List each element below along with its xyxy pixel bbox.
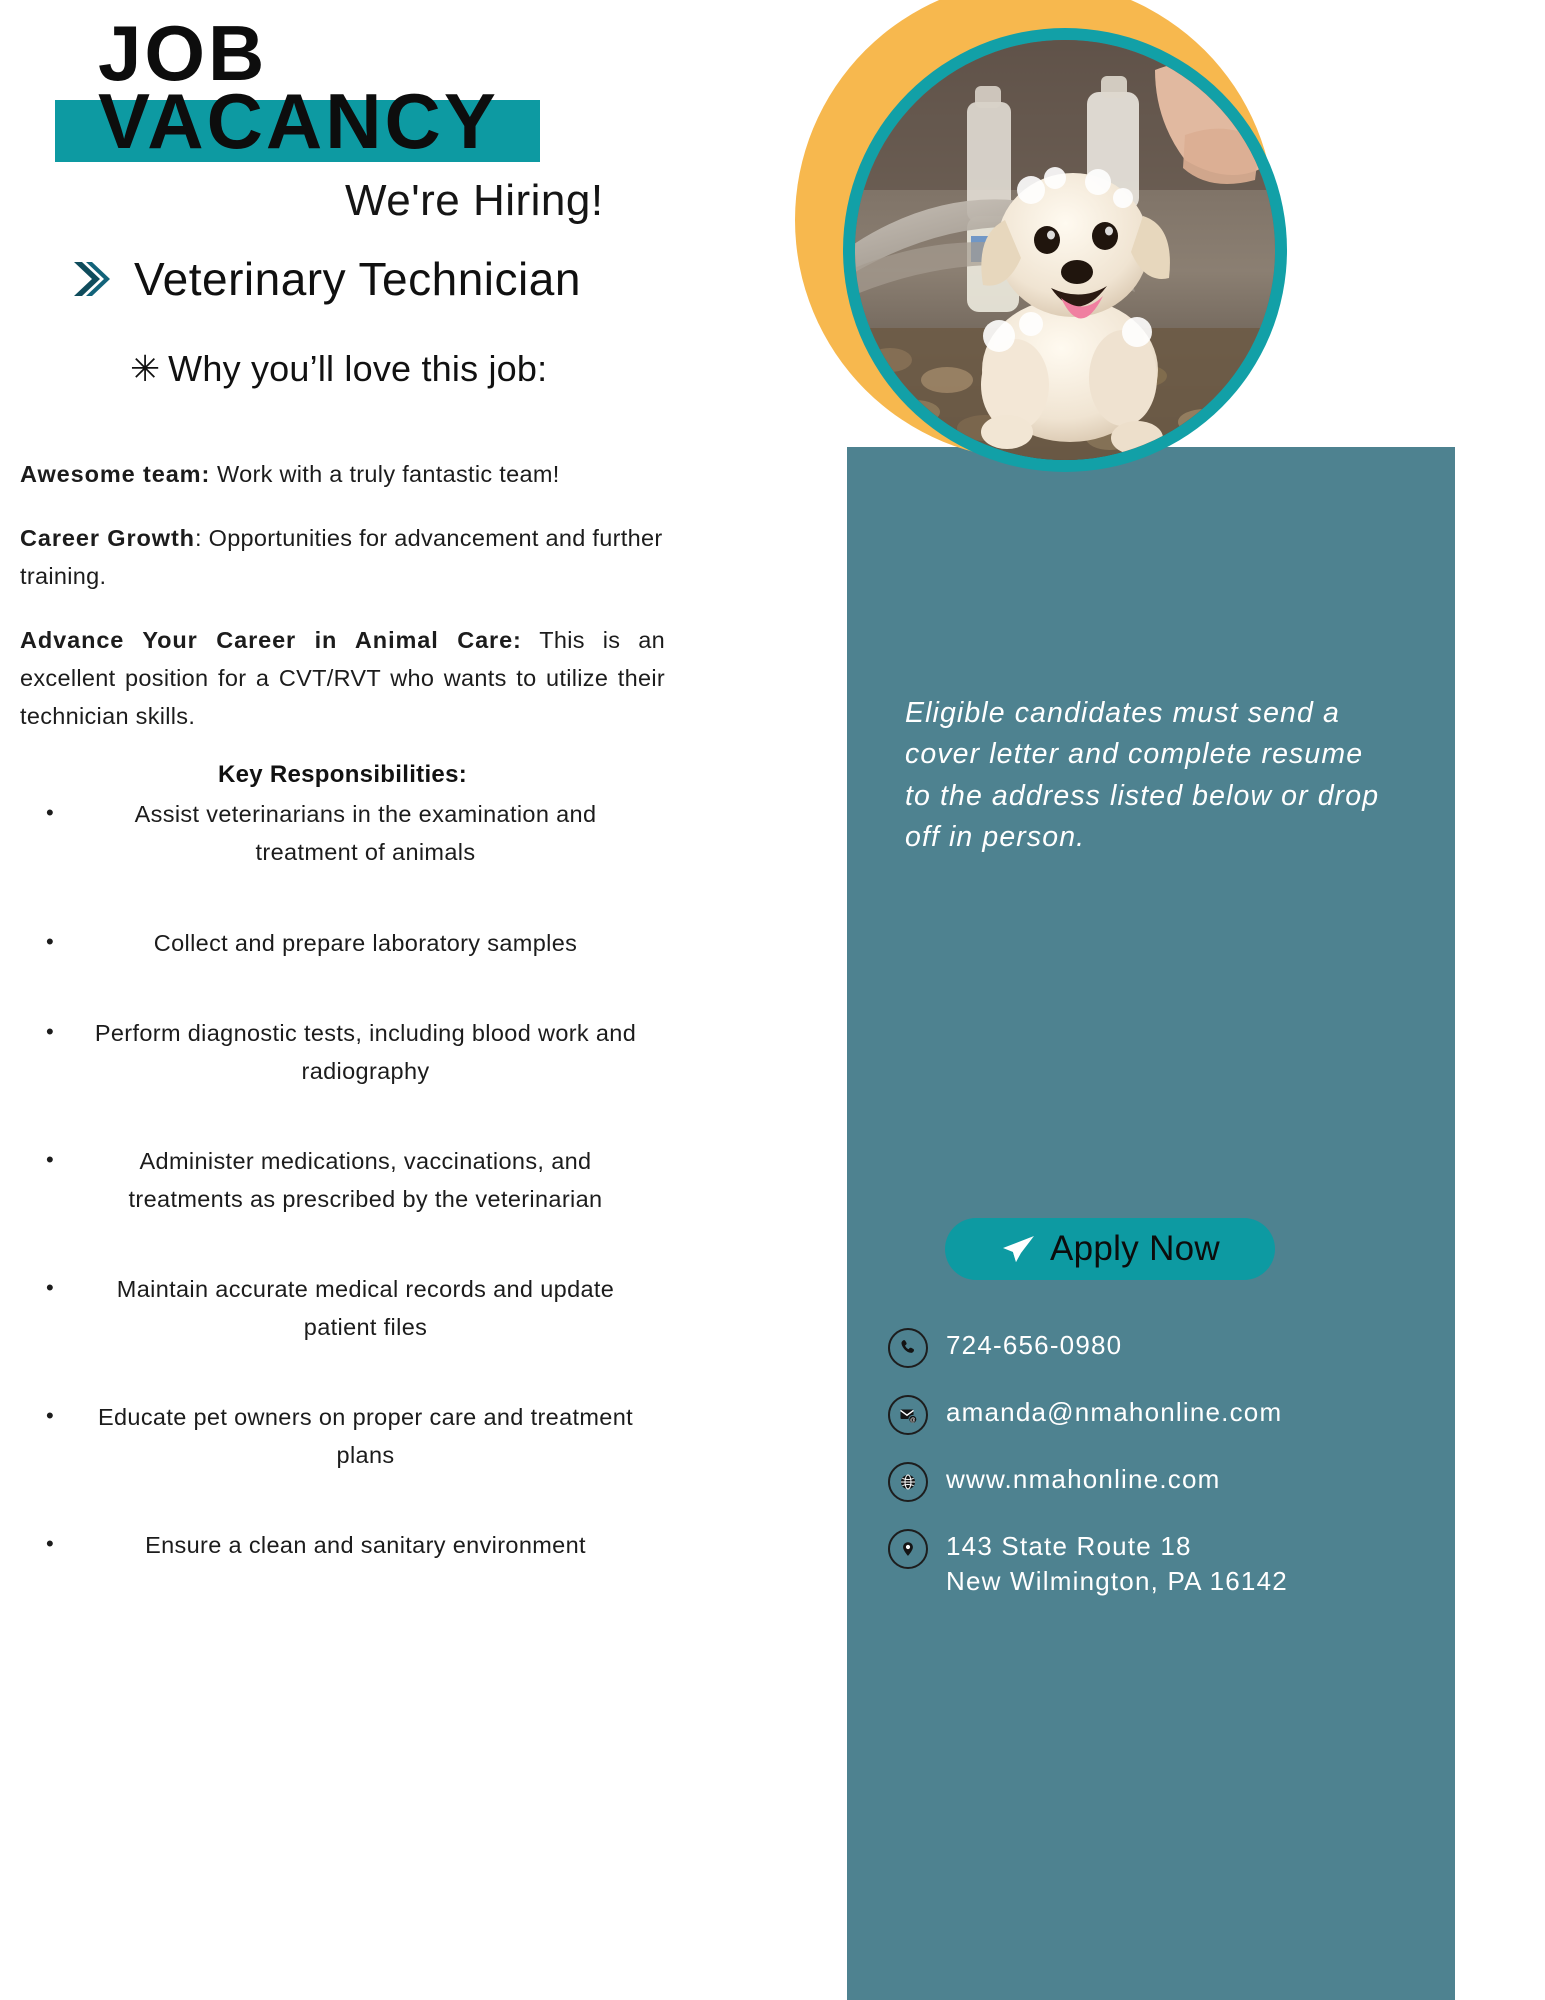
contact-email-row[interactable]: @ amanda@nmahonline.com	[888, 1392, 1418, 1435]
contact-address-value: 143 State Route 18 New Wilmington, PA 16…	[946, 1526, 1288, 1599]
key-responsibilities-heading: Key Responsibilities:	[20, 761, 665, 789]
perk-label-awesome-team: Awesome team:	[20, 461, 210, 487]
address-line-1: 143 State Route 18	[946, 1531, 1192, 1561]
list-item: Maintain accurate medical records and up…	[20, 1270, 665, 1346]
apply-now-label: Apply Now	[1050, 1229, 1220, 1269]
perk-label-advance-career: Advance Your Career in Animal Care:	[20, 627, 522, 653]
dog-photo-illustration	[855, 40, 1275, 460]
left-content-column: Awesome team: Work with a truly fantasti…	[20, 455, 665, 1616]
list-item: Ensure a clean and sanitary environment	[20, 1526, 665, 1564]
svg-text:@: @	[910, 1417, 915, 1423]
role-row: Veterinary Technician	[72, 252, 581, 306]
contact-email-value: amanda@nmahonline.com	[946, 1392, 1282, 1430]
contact-website-value: www.nmahonline.com	[946, 1459, 1221, 1497]
key-responsibilities-list: Assist veterinarians in the examination …	[20, 795, 665, 1564]
asterisk-icon: ✳	[130, 351, 160, 387]
list-item: Administer medications, vaccinations, an…	[20, 1142, 665, 1218]
location-pin-icon	[888, 1529, 928, 1569]
list-item: Educate pet owners on proper care and tr…	[20, 1398, 665, 1474]
contact-list: 724-656-0980 @ amanda@nmahonline.com	[888, 1325, 1418, 1623]
list-item: Assist veterinarians in the examination …	[20, 795, 665, 871]
job-role-title: Veterinary Technician	[134, 252, 581, 306]
job-vacancy-poster: JOB VACANCY We're Hiring! Veterinary Tec…	[0, 0, 1545, 2000]
phone-icon	[888, 1328, 928, 1368]
contact-phone-row[interactable]: 724-656-0980	[888, 1325, 1418, 1368]
address-line-2: New Wilmington, PA 16142	[946, 1564, 1288, 1599]
eligibility-note: Eligible candidates must send a cover le…	[905, 693, 1397, 858]
hero-photo-zone	[795, 0, 1295, 480]
perk-career-growth: Career Growth: Opportunities for advance…	[20, 519, 665, 595]
perk-label-career-growth: Career Growth	[20, 525, 195, 551]
hiring-subtitle: We're Hiring!	[345, 176, 604, 226]
email-icon: @	[888, 1395, 928, 1435]
contact-phone-value: 724-656-0980	[946, 1325, 1122, 1363]
apply-now-button[interactable]: Apply Now	[945, 1218, 1275, 1280]
dog-photo	[855, 40, 1275, 460]
list-item: Collect and prepare laboratory samples	[20, 924, 665, 962]
why-love-job-label: Why you’ll love this job:	[168, 348, 547, 390]
why-love-job-heading: ✳ Why you’ll love this job:	[130, 348, 547, 390]
perk-advance-career: Advance Your Career in Animal Care: This…	[20, 621, 665, 735]
page-title-vacancy: VACANCY	[98, 82, 499, 160]
perk-text-awesome-team: Work with a truly fantastic team!	[210, 461, 559, 487]
paper-plane-icon	[1000, 1233, 1036, 1265]
globe-icon	[888, 1462, 928, 1502]
contact-website-row[interactable]: www.nmahonline.com	[888, 1459, 1418, 1502]
contact-address-row[interactable]: 143 State Route 18 New Wilmington, PA 16…	[888, 1526, 1418, 1599]
perk-awesome-team: Awesome team: Work with a truly fantasti…	[20, 455, 665, 493]
list-item: Perform diagnostic tests, including bloo…	[20, 1014, 665, 1090]
chevron-right-icon	[72, 258, 112, 300]
